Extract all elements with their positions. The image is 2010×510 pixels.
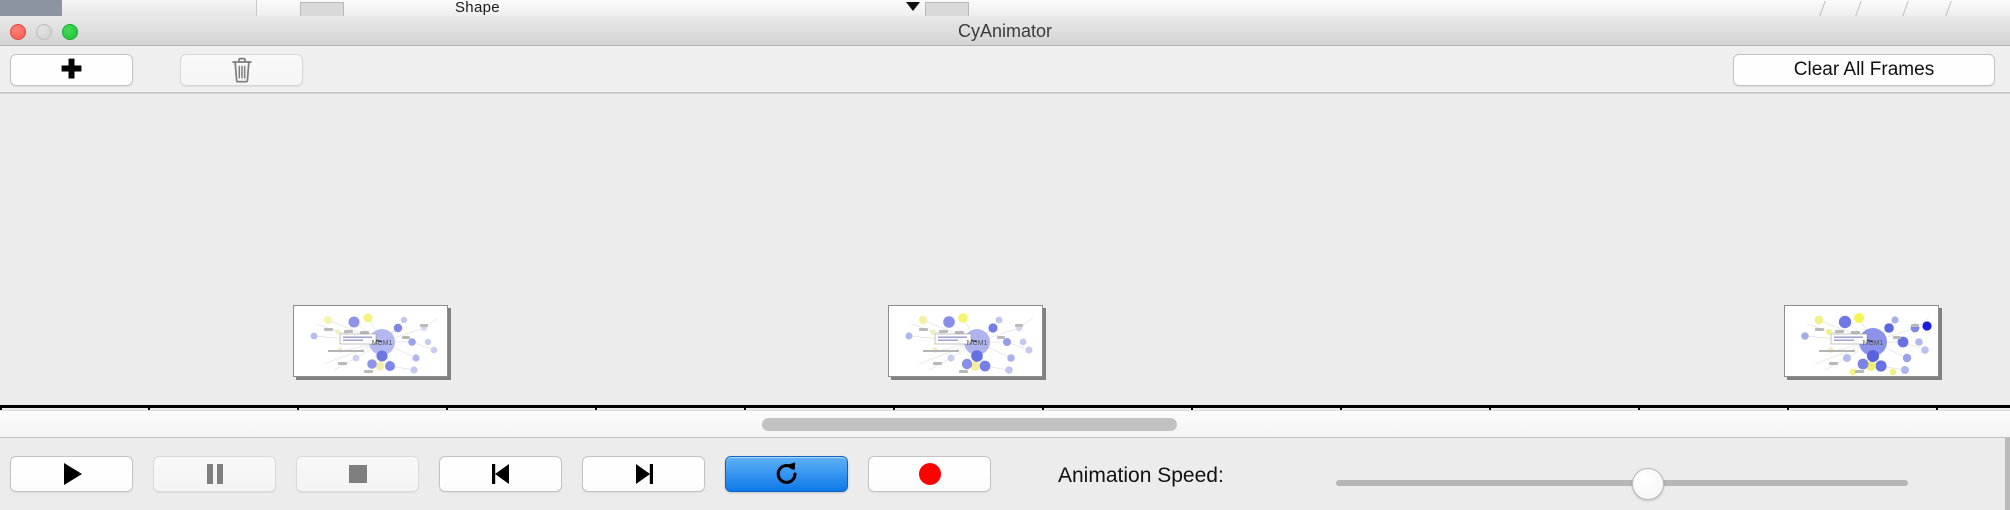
- add-frame-button[interactable]: ✚: [10, 54, 133, 86]
- background-slash-1: [1819, 1, 1825, 16]
- stop-button[interactable]: [296, 456, 419, 492]
- record-button[interactable]: [868, 456, 991, 492]
- background-tab-3: [198, 0, 241, 16]
- timeline-frame-thumbnail[interactable]: MCM1: [888, 305, 1043, 377]
- timeline-axis: [0, 405, 2010, 408]
- network-graph-preview: MCM1: [889, 306, 1042, 376]
- pause-button[interactable]: [153, 456, 276, 492]
- trash-icon: [231, 57, 253, 83]
- background-window-strip: Shape: [0, 0, 2010, 17]
- background-box-1: [300, 2, 344, 17]
- scrollbar-thumb[interactable]: [762, 418, 1177, 431]
- record-icon: [918, 462, 942, 486]
- plus-icon: ✚: [61, 56, 83, 82]
- timeline-top-rule: [0, 93, 2010, 94]
- timeline-panel[interactable]: MCM1: [0, 93, 2010, 410]
- clear-all-frames-label: Clear All Frames: [1794, 59, 1934, 81]
- network-graph-preview: MCM1: [294, 306, 447, 376]
- animation-speed-slider[interactable]: [1336, 480, 1908, 486]
- background-window-sidebar: [0, 0, 62, 16]
- svg-text:MCM1: MCM1: [1863, 340, 1884, 347]
- background-slash-3: [1902, 1, 1908, 16]
- play-button[interactable]: [10, 456, 133, 492]
- pause-icon: [205, 463, 225, 485]
- loop-button[interactable]: [725, 456, 848, 492]
- skip-back-icon: [490, 463, 512, 485]
- timeline-scrollbar[interactable]: [0, 410, 2010, 438]
- title-bar: CyAnimator: [0, 16, 2010, 46]
- network-graph-preview: MCM1: [1785, 306, 1938, 376]
- playback-bar: Animation Speed:: [0, 438, 2010, 510]
- svg-text:MCM1: MCM1: [372, 340, 393, 347]
- clear-all-frames-button[interactable]: Clear All Frames: [1733, 54, 1995, 86]
- background-window-label: Shape: [455, 0, 500, 16]
- delete-frame-button[interactable]: [180, 54, 303, 86]
- timeline-frame-thumbnail[interactable]: MCM1: [1784, 305, 1939, 377]
- skip-to-end-button[interactable]: [582, 456, 705, 492]
- cyanimator-window: Shape CyAnimator ✚ Clear All Frames: [0, 0, 2010, 510]
- background-box-2: [925, 2, 969, 17]
- background-slash-2: [1855, 1, 1861, 16]
- background-slash-4: [1945, 1, 1951, 16]
- background-tab-1: [62, 0, 191, 16]
- skip-forward-icon: [633, 463, 655, 485]
- skip-to-start-button[interactable]: [439, 456, 562, 492]
- stop-icon: [348, 464, 368, 484]
- animation-speed-slider-thumb[interactable]: [1632, 468, 1664, 500]
- background-caret-icon: [906, 2, 920, 11]
- loop-icon: [774, 461, 800, 487]
- timeline-frame-thumbnail[interactable]: MCM1: [293, 305, 448, 377]
- play-icon: [61, 462, 83, 486]
- window-title: CyAnimator: [0, 21, 2010, 42]
- animation-speed-label: Animation Speed:: [1058, 464, 1224, 488]
- toolbar: ✚ Clear All Frames: [0, 46, 2010, 93]
- background-tab-5: [248, 0, 257, 16]
- svg-text:MCM1: MCM1: [967, 340, 988, 347]
- window-right-edge: [2005, 438, 2010, 510]
